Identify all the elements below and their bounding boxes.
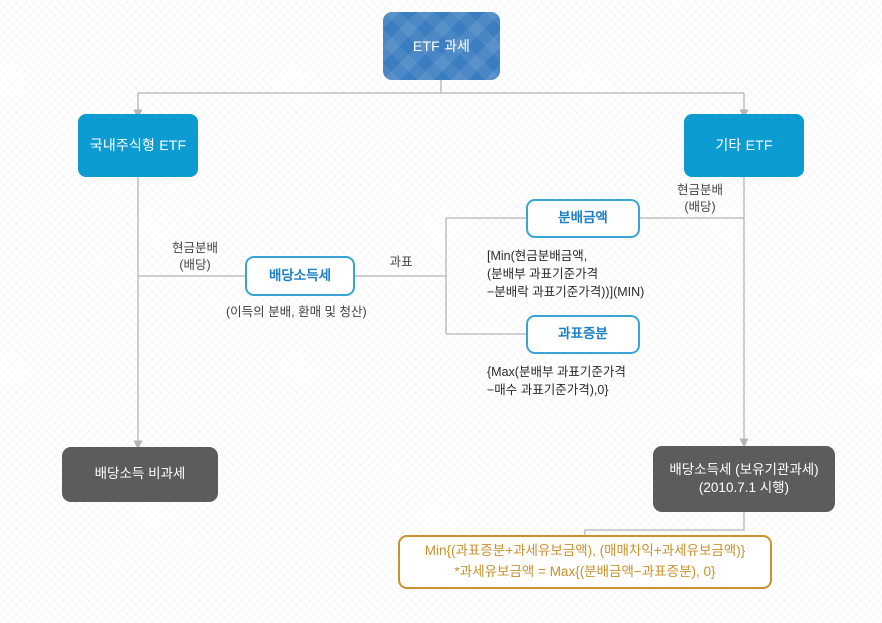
- formula-line-1: {Max(분배부 과표기준가격: [487, 363, 626, 381]
- node-line-2: (2010.7.1 시행): [699, 479, 789, 497]
- node-root[interactable]: ETF 과세: [383, 12, 500, 80]
- node-dividend-nontaxable[interactable]: 배당소득 비과세: [62, 447, 218, 502]
- node-dividend-tax-holding[interactable]: 배당소득세 (보유기관과세) (2010.7.1 시행): [653, 446, 835, 512]
- node-other-etf[interactable]: 기타 ETF: [684, 114, 804, 177]
- node-domestic-equity-etf[interactable]: 국내주식형 ETF: [78, 114, 198, 177]
- node-final-formula[interactable]: Min{(과표증분+과세유보금액), (매매차익+과세유보금액)} *과세유보금…: [398, 535, 772, 589]
- formula-line-3: −분배락 과표기준가격))](MIN): [487, 283, 644, 301]
- edge-label-line1: 현금분배: [155, 240, 235, 257]
- edge-label-cash-distribution-right: 현금분배 (배당): [660, 182, 740, 216]
- node-taxbase-increment[interactable]: 과표증분: [526, 315, 640, 354]
- note-dividend-tax: (이득의 분배, 환매 및 청산): [226, 304, 367, 321]
- edge-label-line2: (배당): [660, 199, 740, 216]
- node-line-1: 배당소득세 (보유기관과세): [669, 461, 818, 479]
- edge-label-line1: 현금분배: [660, 182, 740, 199]
- node-dividend-income-tax[interactable]: 배당소득세: [245, 256, 355, 296]
- formula-taxbase-increment: {Max(분배부 과표기준가격 −매수 과표기준가격),0}: [487, 363, 626, 399]
- diagram-canvas: ETF 과세 국내주식형 ETF 기타 ETF 현금분배 (배당) 배당소득세 …: [0, 0, 882, 623]
- final-formula-line-2: *과세유보금액 = Max{(분배금액−과표증분), 0}: [455, 562, 716, 583]
- final-formula-line-1: Min{(과표증분+과세유보금액), (매매차익+과세유보금액)}: [425, 541, 745, 562]
- formula-line-2: (분배부 과표기준가격: [487, 265, 644, 283]
- node-distribution-amount[interactable]: 분배금액: [526, 199, 640, 238]
- formula-line-2: −매수 과표기준가격),0}: [487, 381, 626, 399]
- formula-line-1: [Min(현금분배금액,: [487, 247, 644, 265]
- connector-lines: [0, 0, 882, 623]
- edge-label-tax-base: 과표: [383, 254, 419, 271]
- edge-label-line2: (배당): [155, 257, 235, 274]
- edge-label-cash-distribution-left: 현금분배 (배당): [155, 240, 235, 274]
- formula-distribution-amount: [Min(현금분배금액, (분배부 과표기준가격 −분배락 과표기준가격))](…: [487, 247, 644, 301]
